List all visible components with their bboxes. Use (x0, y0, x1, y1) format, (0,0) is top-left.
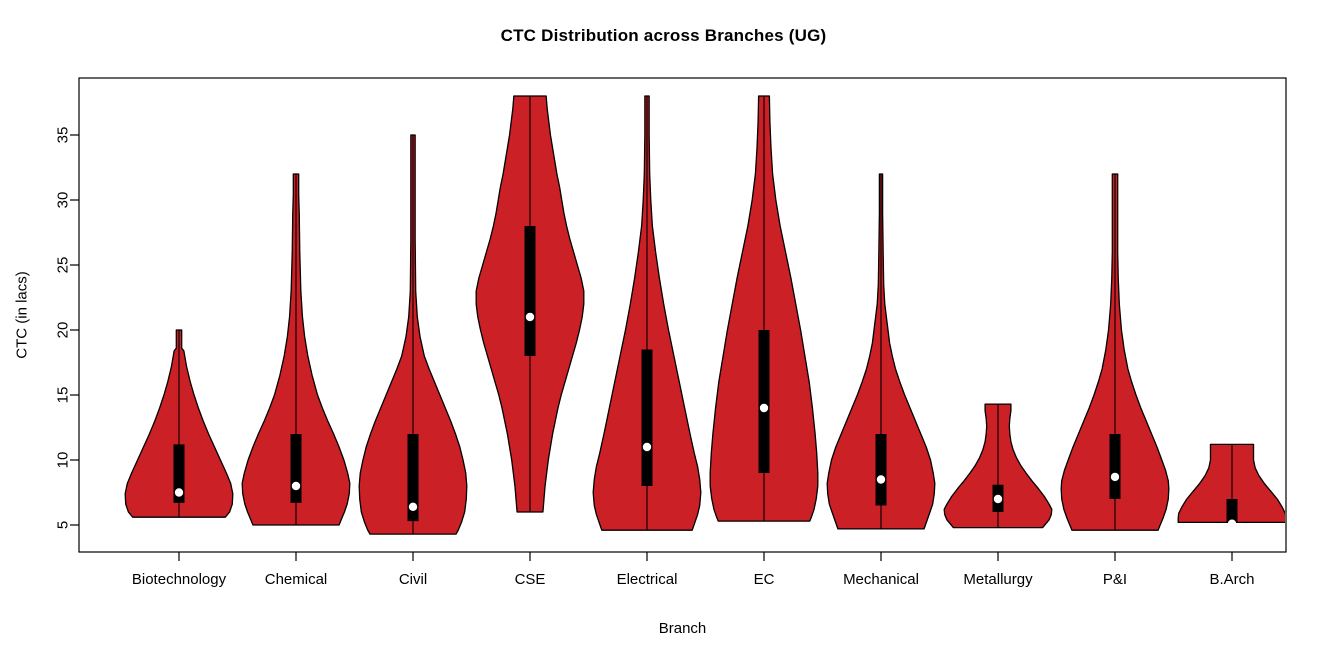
y-axis-tick-label: 25 (55, 257, 72, 274)
violin-median-point (643, 443, 651, 451)
violin-electrical (593, 96, 701, 530)
x-axis-tick-label: Mechanical (843, 571, 919, 588)
violin-plot-figure: CTC Distribution across Branches (UG) 51… (0, 0, 1327, 653)
violin-civil (359, 135, 467, 534)
violin-p-i (1061, 174, 1169, 530)
x-axis-title: Branch (659, 620, 707, 637)
x-axis-tick-label: EC (754, 571, 775, 588)
violin-median-point (1111, 473, 1119, 481)
x-axis-tick-label: CSE (515, 571, 546, 588)
y-axis-tick-label: 15 (55, 387, 72, 404)
x-axis-tick-label: B.Arch (1209, 571, 1254, 588)
violin-median-point (526, 313, 534, 321)
violin-median-point (760, 404, 768, 412)
plot-canvas: 5101520253035CTC (in lacs)BiotechnologyC… (0, 0, 1327, 653)
violin-median-point (175, 488, 183, 496)
y-axis-tick-label: 10 (55, 452, 72, 469)
y-axis-tick-label: 20 (55, 322, 72, 339)
violin-b-arch (1178, 444, 1286, 528)
x-axis-tick-label: Metallurgy (963, 571, 1033, 588)
y-axis-tick-label: 35 (55, 127, 72, 144)
x-axis-tick-label: P&I (1103, 571, 1127, 588)
y-axis-tick-label: 30 (55, 192, 72, 209)
violin-biotechnology (125, 330, 233, 517)
violin-median-point (409, 503, 417, 511)
violin-median-point (994, 495, 1002, 503)
x-axis-tick-label: Chemical (265, 571, 328, 588)
violin-mechanical (827, 174, 935, 529)
violin-median-point (877, 475, 885, 483)
x-axis-tick-label: Civil (399, 571, 427, 588)
violin-median-point (1228, 520, 1236, 528)
x-axis-tick-label: Biotechnology (132, 571, 227, 588)
y-axis-title: CTC (in lacs) (14, 271, 31, 359)
violin-metallurgy (944, 404, 1052, 527)
y-axis-tick-label: 5 (55, 521, 72, 529)
violin-chemical (242, 174, 350, 525)
violin-ec (710, 96, 818, 521)
violin-cse (476, 96, 584, 512)
violins-layer (125, 96, 1286, 534)
x-axis-tick-label: Electrical (617, 571, 678, 588)
violin-median-point (292, 482, 300, 490)
